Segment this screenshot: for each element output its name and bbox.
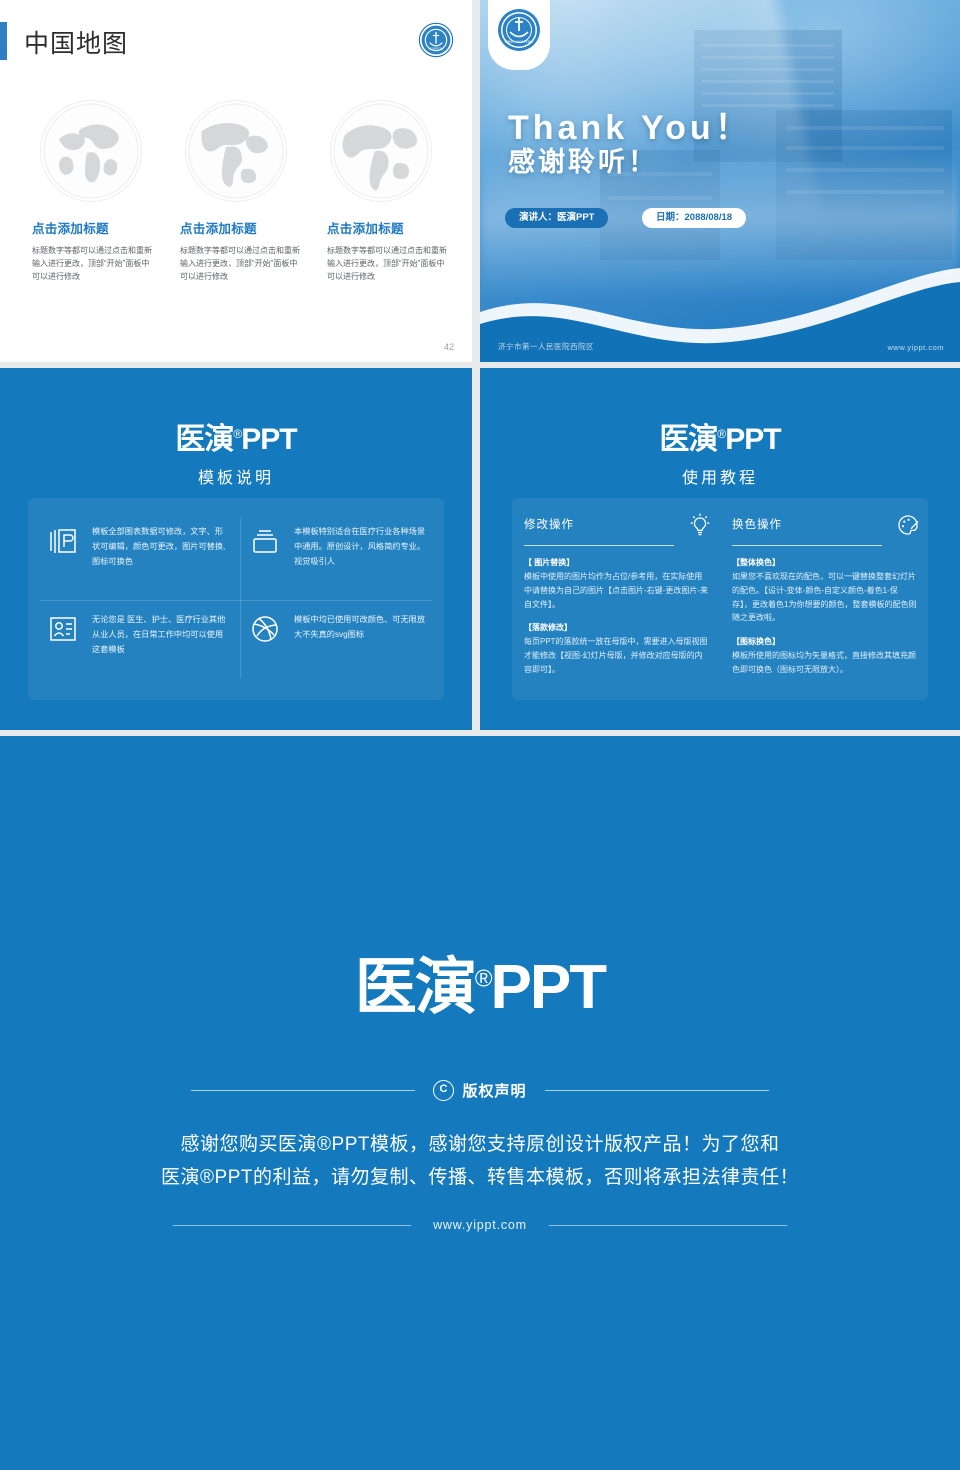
slide-thank-you: FIRST HOSPITAL Thank You！ 感谢聆听！ 演讲人：医演PP… [480,0,960,362]
footer-url: www.yippt.com [887,343,944,352]
tutorial-block-title: 【落款修改】 [524,622,709,633]
feature-text-1: 模板全部图表数据可修改，文字、形状可编辑，颜色可更改，图片可替换,图标可换色 [92,524,231,570]
copyright-footer-row: www.yippt.com [0,1218,960,1232]
palette-icon [895,512,921,538]
tutorial-block-body: 模板所使用的图标均为矢量格式，直接修改其填充颜色即可换色（图标可无限放大）。 [732,649,917,677]
footer-organization: 济宁市第一人民医院西院区 [498,341,594,352]
slide-subtitle: 使用教程 [480,464,960,488]
slide-china-map: 中国地图 HOSPITAL [0,0,472,362]
caption-column-2: 点击添加标题 标题数字等都可以通过点击和重新输入进行更改，顶部“开始”面板中可以… [180,218,305,284]
book-pages-icon [46,524,80,558]
tutorial-heading-row: 修改操作 [524,516,709,546]
tutorial-block-title: 【整体换色】 [732,557,917,568]
caption-title-3: 点击添加标题 [327,218,452,237]
page-number: 42 [444,342,454,352]
tutorial-heading-row: 换色操作 [732,516,917,546]
caption-column-3: 点击添加标题 标题数字等都可以通过点击和重新输入进行更改，顶部“开始”面板中可以… [327,218,452,284]
heading-underline [732,545,882,546]
feature-item-1: 模板全部图表数据可修改，文字、形状可编辑，颜色可更改，图片可替换,图标可换色 [46,524,231,570]
card-stack-icon [248,524,282,558]
brand-cn: 医演 [355,953,475,1022]
tutorial-heading-label: 换色操作 [732,516,917,532]
copyright-title-group: C 版权声明 [433,1080,526,1101]
page-title: 中国地图 [24,24,128,60]
globe-icon-2 [185,100,287,202]
copyright-header-row: C 版权声明 [0,1080,960,1101]
copyright-body-line-1: 感谢您购买医演®PPT模板，感谢您支持原创设计版权产品！为了您和 [0,1128,960,1161]
title-accent-bar [0,22,7,60]
brand-lockup: 医演®PPT 模板说明 [0,414,472,488]
globe-illustration-row [0,96,472,206]
copyright-body-line-2: 医演®PPT的利益，请勿复制、传播、转售本模板，否则将承担法律责任！ [0,1161,960,1194]
copyright-title: 版权声明 [462,1080,526,1101]
feature-text-2: 本模板特别适合在医疗行业各种场景中通用。原创设计，风格简约专业。视觉吸引人 [294,524,433,570]
tutorial-block-2: 【图标换色】 模板所使用的图标均为矢量格式，直接修改其填充颜色即可换色（图标可无… [732,636,917,677]
tutorial-block-body: 每页PPT的落款统一放在母版中，需要进入母版视图才能修改【视图-幻灯片母版，并修… [524,635,709,676]
slide-template-description: 医演®PPT 模板说明 模板全部图表数据可修改，文字、形状可编辑，颜色可更改，图… [0,368,472,730]
brand-ppt: PPT [725,423,780,456]
slide-deck-page: 中国地图 HOSPITAL [0,0,960,1470]
tutorial-block-1: 【 图片替换】 模板中使用的图片均作为占位/参考用，在实际使用中请替换为自己的图… [524,557,709,611]
feature-item-4: 模板中均已使用可改颜色、可无限放大不失真的svg图标 [248,612,433,646]
tutorial-block-1: 【整体换色】 如果您不喜欢现在的配色，可以一键替换整套幻灯片的配色。【设计-变体… [732,557,917,625]
brand-registered-mark: ® [475,965,491,992]
slide-subtitle: 模板说明 [0,464,472,488]
feature-horizontal-divider [40,600,432,601]
brand-cn: 医演 [659,423,717,456]
feature-item-3: 无论您是 医生、护士、医疗行业其他从业人员，在日常工作中均可以使用这套模板 [46,612,231,658]
brand-title: 医演®PPT [0,414,472,458]
svg-text:HOSPITAL: HOSPITAL [429,47,444,51]
divider-left [191,1090,415,1091]
hospital-logo-plate: FIRST HOSPITAL [488,0,550,70]
tutorial-heading-label: 修改操作 [524,516,709,532]
lightbulb-icon [687,512,713,538]
caption-body-3: 标题数字等都可以通过点击和重新输入进行更改，顶部“开始”面板中可以进行修改 [327,244,452,284]
hospital-emblem-icon: FIRST HOSPITAL [495,6,543,54]
globe-icon-1 [40,100,142,202]
copyright-body: 感谢您购买医演®PPT模板，感谢您支持原创设计版权产品！为了您和 医演®PPT的… [0,1128,960,1195]
slide-usage-tutorial: 医演®PPT 使用教程 修改操作 【 图片替换】 模板中使用的 [480,368,960,730]
thank-you-title-cn: 感谢聆听！ [508,140,658,179]
tutorial-block-title: 【图标换色】 [732,636,917,647]
tutorial-block-body: 模板中使用的图片均作为占位/参考用，在实际使用中请替换为自己的图片【点击图片-右… [524,570,709,611]
feature-text-3: 无论您是 医生、护士、医疗行业其他从业人员，在日常工作中均可以使用这套模板 [92,612,231,658]
divider-right [545,1090,769,1091]
tutorial-block-2: 【落款修改】 每页PPT的落款统一放在母版中，需要进入母版视图才能修改【视图-幻… [524,622,709,676]
caption-title-2: 点击添加标题 [180,218,305,237]
brand-ppt: PPT [491,953,606,1022]
hospital-emblem-icon: HOSPITAL [418,22,454,58]
feature-item-2: 本模板特别适合在医疗行业各种场景中通用。原创设计，风格简约专业。视觉吸引人 [248,524,433,570]
divider-left [173,1225,411,1226]
tutorial-column-edit: 修改操作 【 图片替换】 模板中使用的图片均作为占位/参考用，在实际使用中请替换… [524,516,709,677]
tutorial-column-recolor: 换色操作 【整体换色】 如果您不喜欢现在的配色，可以一键替换整套幻灯片的配色。【… [732,516,917,677]
caption-body-1: 标题数字等都可以通过点击和重新输入进行更改，顶部“开始”面板中可以进行修改 [32,244,157,284]
site-url: www.yippt.com [433,1218,527,1232]
user-profile-icon [46,612,80,646]
tutorial-block-title: 【 图片替换】 [524,557,709,568]
dribbble-ball-icon [248,612,282,646]
date-badge: 日期：2088/08/18 [642,208,746,228]
brand-cn: 医演 [175,423,233,456]
caption-title-1: 点击添加标题 [32,218,157,237]
speaker-badge: 演讲人：医演PPT [505,208,608,228]
brand-lockup-large: 医演®PPT [0,936,960,1026]
feature-text-4: 模板中均已使用可改颜色、可无限放大不失真的svg图标 [294,612,433,642]
brand-title: 医演®PPT [480,414,960,458]
caption-column-1: 点击添加标题 标题数字等都可以通过点击和重新输入进行更改，顶部“开始”面板中可以… [32,218,157,284]
feature-vertical-divider [240,518,241,678]
divider-right [549,1225,787,1226]
tutorial-block-body: 如果您不喜欢现在的配色，可以一键替换整套幻灯片的配色。【设计-变体-颜色-自定义… [732,570,917,625]
heading-underline [524,545,674,546]
caption-body-2: 标题数字等都可以通过点击和重新输入进行更改，顶部“开始”面板中可以进行修改 [180,244,305,284]
globe-icon-3 [330,100,432,202]
svg-text:FIRST HOSPITAL: FIRST HOSPITAL [505,40,534,44]
slide-copyright: 医演®PPT C 版权声明 感谢您购买医演®PPT模板，感谢您支持原创设计版权产… [0,736,960,1470]
brand-title: 医演®PPT [0,936,960,1026]
brand-lockup: 医演®PPT 使用教程 [480,414,960,488]
brand-ppt: PPT [241,423,296,456]
copyright-icon: C [433,1080,454,1101]
